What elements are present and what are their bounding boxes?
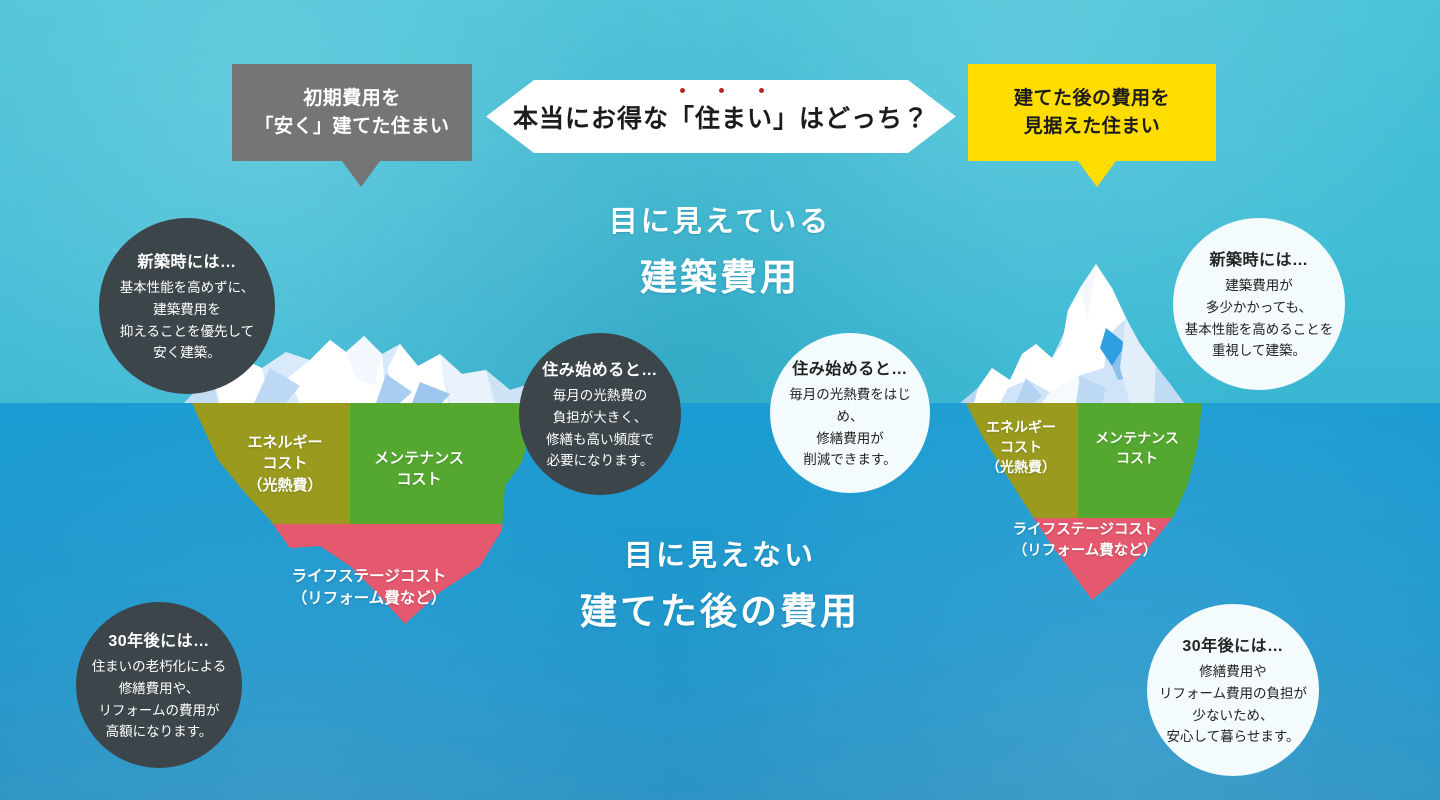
heading-above-water: 目に見えている 建築費用 [545,198,895,301]
infographic-canvas: エネルギー コスト （光熱費） メンテナンス コスト ライフステージコスト （リ… [0,0,1440,800]
callout-body: 毎月の光熱費の 負担が大きく、 修繕も高い頻度で 必要になります。 [546,385,654,472]
label-maintenance-cost-left: メンテナンス コスト [354,448,484,491]
callout-title: 新築時には… [137,248,236,272]
label-energy-cost-left: エネルギー コスト （光熱費） [222,432,348,496]
callout-body: 建築費用が 多少かかっても、 基本性能を高めることを 重視して建築。 [1185,275,1334,362]
callout-body: 毎月の光熱費をはじめ、 修繕費用が 削減できます。 [776,384,924,471]
label-energy-cost-right: エネルギー コスト （光熱費） [965,418,1077,478]
callout-title: 住み始めると… [792,355,908,379]
callout-tail-left [342,161,380,187]
heading-below-water: 目に見えない 建てた後の費用 [545,532,895,635]
callout-right-30-years[interactable]: 30年後には… 修繕費用や リフォーム費用の負担が 少ないため、 安心して暮らせ… [1147,604,1319,776]
banner-question: 本当にお得な「住まい」はどっち？ [486,80,956,153]
callout-left-new-build[interactable]: 新築時には… 基本性能を高めずに、 建築費用を 抑えることを優先して 安く建築。 [99,218,275,394]
callout-body: 住まいの老朽化による 修繕費用や、 リフォームの費用が 高額になります。 [92,656,227,743]
callout-tail-right [1078,161,1116,187]
callout-body: 基本性能を高めずに、 建築費用を 抑えることを優先して 安く建築。 [120,277,255,364]
iceberg-right-tip [960,264,1184,403]
callout-right-new-build[interactable]: 新築時には… 建築費用が 多少かかっても、 基本性能を高めることを 重視して建築… [1173,218,1345,390]
label-box-future-cost-build[interactable]: 建てた後の費用を 見据えた住まい [968,64,1216,161]
callout-body: 修繕費用や リフォーム費用の負担が 少ないため、 安心して暮らせます。 [1159,661,1307,748]
callout-left-living[interactable]: 住み始めると… 毎月の光熱費の 負担が大きく、 修繕も高い頻度で 必要になります… [519,333,681,495]
callout-title: 30年後には… [108,627,209,651]
callout-title: 住み始めると… [542,356,658,380]
banner-question-text: 本当にお得な「住まい」はどっち？ [513,99,929,135]
label-box-cheap-build[interactable]: 初期費用を 「安く」建てた住まい [232,64,472,161]
label-maintenance-cost-right: メンテナンス コスト [1078,429,1196,469]
callout-right-living[interactable]: 住み始めると… 毎月の光熱費をはじめ、 修繕費用が 削減できます。 [770,333,930,493]
callout-title: 30年後には… [1182,632,1283,656]
label-lifestage-cost-left: ライフステージコスト （リフォーム費など） [243,566,495,610]
callout-title: 新築時には… [1209,246,1308,270]
callout-left-30-years[interactable]: 30年後には… 住まいの老朽化による 修繕費用や、 リフォームの費用が 高額にな… [76,602,242,768]
emphasis-dots [680,88,764,93]
label-lifestage-cost-right: ライフステージコスト （リフォーム費など） [980,520,1190,561]
